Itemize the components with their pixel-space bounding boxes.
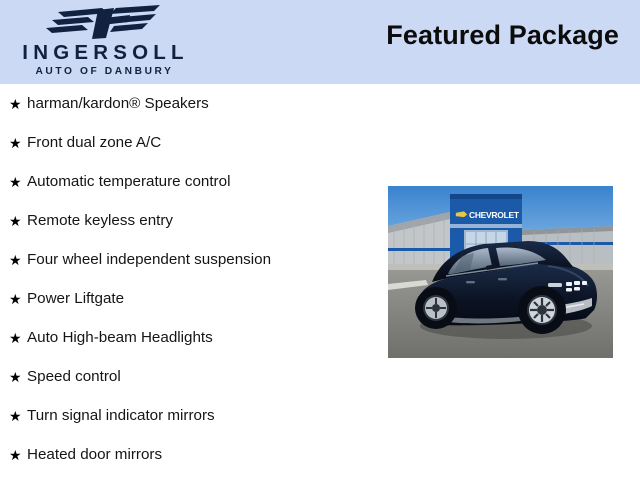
star-bullet-icon: ★ [9, 292, 27, 306]
list-item: ★ Remote keyless entry [0, 201, 380, 240]
feature-label: Speed control [27, 368, 121, 386]
feature-label: Turn signal indicator mirrors [27, 407, 215, 425]
star-bullet-icon: ★ [9, 331, 27, 345]
feature-label: harman/kardon® Speakers [27, 95, 209, 113]
list-item: ★ harman/kardon® Speakers [0, 84, 380, 123]
feature-label: Front dual zone A/C [27, 134, 161, 152]
page-title: Featured Package [386, 20, 619, 51]
star-bullet-icon: ★ [9, 136, 27, 150]
feature-label: Heated door mirrors [27, 446, 162, 464]
featured-package-list: ★ harman/kardon® Speakers ★ Front dual z… [0, 84, 380, 474]
dealer-brand-name: INGERSOLL [17, 43, 188, 63]
dealer-brand-tagline: AUTO OF DANBURY [32, 66, 173, 78]
ingersoll-winged-emblem [44, 3, 162, 43]
list-item: ★ Power Liftgate [0, 279, 380, 318]
star-bullet-icon: ★ [9, 97, 27, 111]
star-bullet-icon: ★ [9, 448, 27, 462]
feature-label: Four wheel independent suspension [27, 251, 271, 269]
feature-label: Auto High-beam Headlights [27, 329, 213, 347]
feature-label: Automatic temperature control [27, 173, 230, 191]
dealer-logo: INGERSOLL AUTO OF DANBURY [0, 2, 206, 82]
star-bullet-icon: ★ [9, 175, 27, 189]
list-item: ★ Speed control [0, 357, 380, 396]
star-bullet-icon: ★ [9, 409, 27, 423]
star-bullet-icon: ★ [9, 214, 27, 228]
list-item: ★ Turn signal indicator mirrors [0, 396, 380, 435]
star-bullet-icon: ★ [9, 370, 27, 384]
list-item: ★ Front dual zone A/C [0, 123, 380, 162]
list-item: ★ Auto High-beam Headlights [0, 318, 380, 357]
feature-label: Power Liftgate [27, 290, 124, 308]
svg-text:CHEVROLET: CHEVROLET [469, 210, 520, 220]
star-bullet-icon: ★ [9, 253, 27, 267]
page-header: INGERSOLL AUTO OF DANBURY Featured Packa… [0, 0, 640, 84]
feature-label: Remote keyless entry [27, 212, 173, 230]
vehicle-photo: CHEVROLET [388, 186, 613, 358]
list-item: ★ Heated door mirrors [0, 435, 380, 474]
list-item: ★ Four wheel independent suspension [0, 240, 380, 279]
list-item: ★ Automatic temperature control [0, 162, 380, 201]
